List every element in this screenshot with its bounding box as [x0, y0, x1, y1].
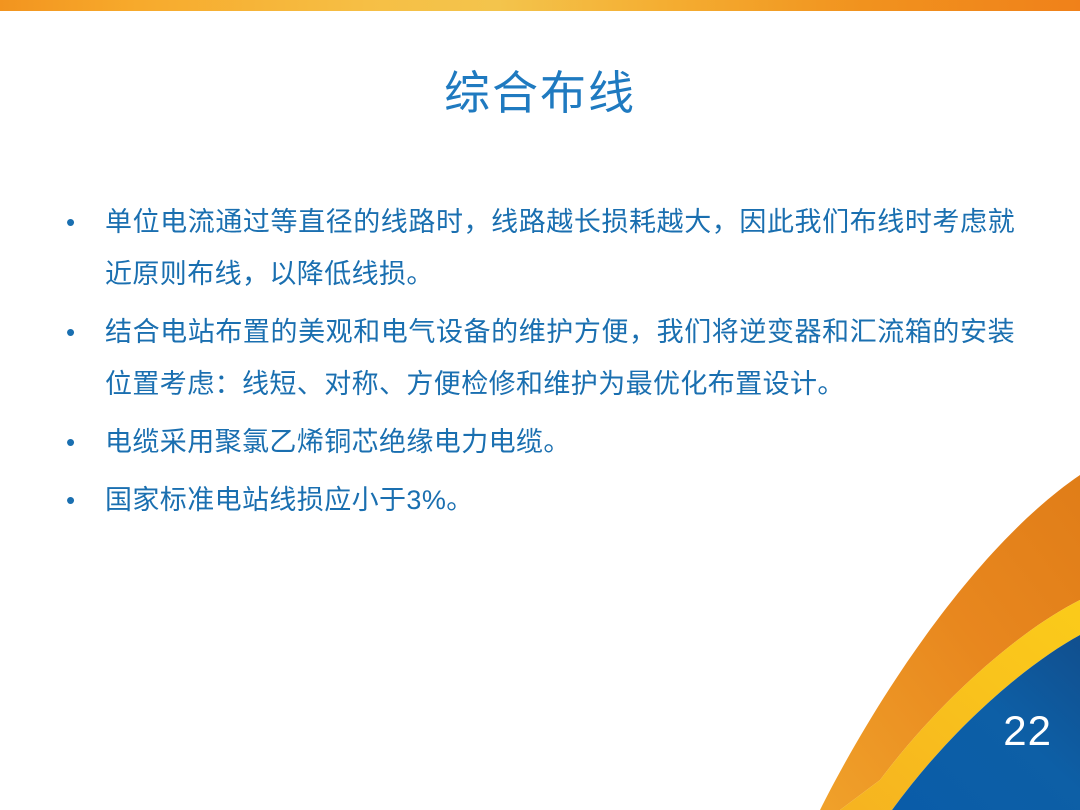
list-item: • 单位电流通过等直径的线路时，线路越长损耗越大，因此我们布线时考虑就近原则布线…	[60, 196, 1015, 300]
list-item: • 结合电站布置的美观和电气设备的维护方便，我们将逆变器和汇流箱的安装位置考虑：…	[60, 306, 1015, 410]
list-item: • 电缆采用聚氯乙烯铜芯绝缘电力电缆。	[60, 416, 1015, 468]
slide-title: 综合布线	[0, 64, 1080, 122]
bullet-list: • 单位电流通过等直径的线路时，线路越长损耗越大，因此我们布线时考虑就近原则布线…	[60, 196, 1015, 532]
bullet-text: 结合电站布置的美观和电气设备的维护方便，我们将逆变器和汇流箱的安装位置考虑：线短…	[105, 306, 1015, 410]
bullet-text: 电缆采用聚氯乙烯铜芯绝缘电力电缆。	[105, 416, 1015, 468]
bullet-text: 单位电流通过等直径的线路时，线路越长损耗越大，因此我们布线时考虑就近原则布线，以…	[105, 196, 1015, 300]
top-accent-bar	[0, 0, 1080, 11]
bullet-dot-icon: •	[60, 416, 105, 468]
bullet-dot-icon: •	[60, 196, 105, 248]
slide-canvas: 综合布线 • 单位电流通过等直径的线路时，线路越长损耗越大，因此我们布线时考虑就…	[0, 0, 1080, 810]
page-number: 22	[1003, 710, 1052, 752]
bullet-dot-icon: •	[60, 474, 105, 526]
swoosh-yellow-band	[840, 600, 1080, 810]
bullet-dot-icon: •	[60, 306, 105, 358]
list-item: • 国家标准电站线损应小于3%。	[60, 474, 1015, 526]
bullet-text: 国家标准电站线损应小于3%。	[105, 474, 1015, 526]
